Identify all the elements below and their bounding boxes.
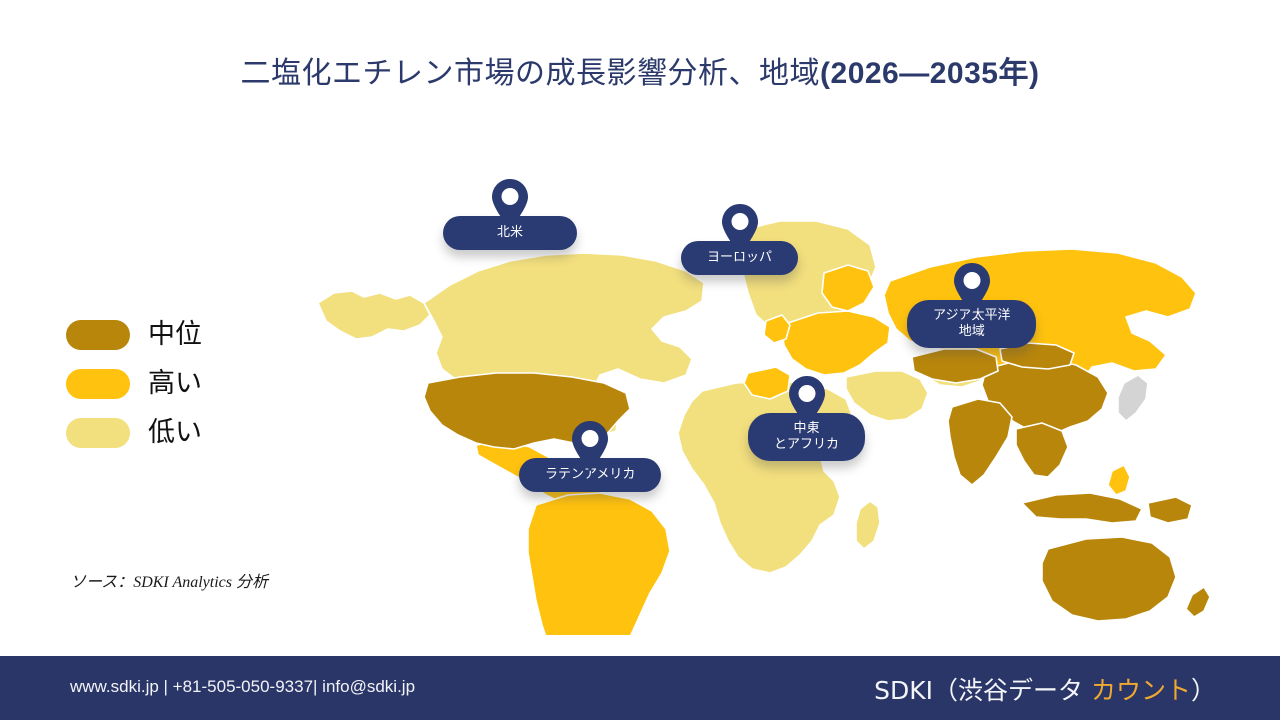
footer-brand: SDKI（渋谷データ カウント） [874, 671, 1216, 707]
region-south-america [528, 493, 670, 635]
region-indonesia [1022, 493, 1142, 523]
region-scandinavia [822, 265, 874, 311]
region-madagascar [856, 501, 880, 549]
map-marker-europe[interactable]: ヨーロッパ [681, 203, 798, 275]
region-philippines [1108, 465, 1130, 495]
legend-item-medium: 中位 [66, 310, 306, 359]
page-title-years: (2026—2035年) [820, 57, 1039, 90]
map-marker-asia-pacific[interactable]: アジア太平洋 地域 [907, 262, 1036, 348]
footer-brand-accent: カウント [1091, 676, 1191, 705]
region-australia [1042, 537, 1176, 621]
map-marker-middle-east-africa[interactable]: 中東 とアフリカ [748, 375, 865, 461]
region-southeast-asia [1016, 423, 1068, 477]
page-title: 二塩化エチレン市場の成長影響分析、地域(2026—2035年) [0, 52, 1280, 96]
map-pin-icon [721, 203, 759, 255]
world-map: 北米 ヨーロッパ アジア太平洋 地域 [300, 125, 1220, 635]
page-title-main: 二塩化エチレン市場の成長影響分析、地域 [241, 57, 821, 90]
region-india [948, 399, 1012, 485]
map-pin-icon [788, 375, 826, 427]
legend-label-high: 高い [148, 370, 202, 397]
slide-canvas: 二塩化エチレン市場の成長影響分析、地域(2026—2035年) 中位 高い 低い… [0, 0, 1280, 720]
legend-item-low: 低い [66, 408, 306, 457]
map-legend: 中位 高い 低い [66, 310, 306, 457]
legend-label-medium: 中位 [148, 321, 202, 348]
footer-brand-suffix: ） [1191, 676, 1216, 705]
region-alaska [318, 291, 430, 339]
map-marker-latin-america[interactable]: ラテンアメリカ [519, 420, 661, 492]
footer-contact-info[interactable]: www.sdki.jp | +81-505-050-9337| info@sdk… [70, 677, 415, 697]
region-europe [782, 311, 890, 375]
legend-swatch-medium [66, 320, 130, 350]
region-new-zealand [1186, 587, 1210, 617]
region-japan [1118, 375, 1148, 421]
source-note: ソース：SDKI Analytics 分析 [70, 568, 268, 592]
map-marker-north-america[interactable]: 北米 [443, 178, 577, 250]
footer-bar: www.sdki.jp | +81-505-050-9337| info@sdk… [0, 656, 1280, 720]
map-pin-icon [491, 178, 529, 230]
map-pin-icon [953, 262, 991, 314]
legend-swatch-low [66, 418, 130, 448]
legend-swatch-high [66, 369, 130, 399]
map-pin-icon [571, 420, 609, 472]
footer-brand-prefix: SDKI（渋谷データ [874, 676, 1091, 705]
legend-item-high: 高い [66, 359, 306, 408]
legend-label-low: 低い [148, 419, 202, 446]
region-papua-new-guinea [1148, 497, 1192, 523]
